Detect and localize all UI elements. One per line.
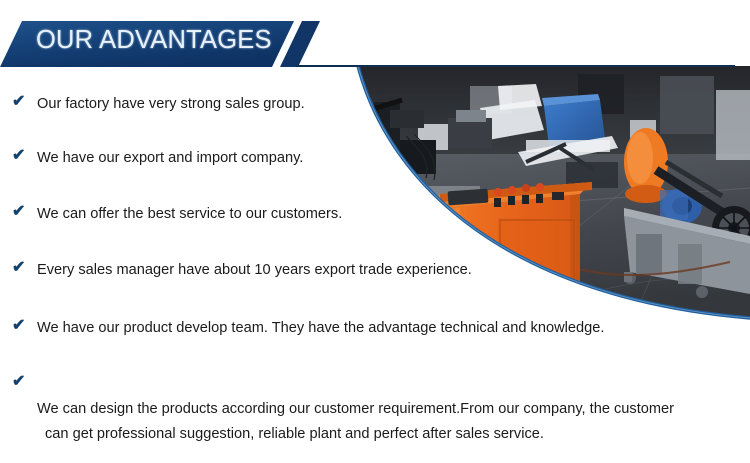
check-icon: ✔ [12,258,32,278]
list-item-label: We can design the products according our… [37,372,674,463]
list-item-label: Our factory have very strong sales group… [37,92,305,117]
list-item: ✔ We have our export and import company. [12,146,303,171]
list-item: ✔ Every sales manager have about 10 year… [12,258,472,283]
check-icon: ✔ [12,316,32,336]
banner-shape [0,21,330,67]
factory-machine-photo [330,66,750,328]
check-icon: ✔ [12,372,32,392]
list-item: ✔ We can design the products according o… [12,372,674,463]
list-item: ✔ Our factory have very strong sales gro… [12,92,305,117]
list-item-label: Every sales manager have about 10 years … [37,258,472,283]
list-item: ✔ We can offer the best service to our c… [12,202,342,227]
list-item-label: We have our product develop team. They h… [37,316,604,341]
header-rule [296,65,735,67]
list-item-label: We can offer the best service to our cus… [37,202,342,227]
check-icon: ✔ [12,92,32,112]
list-item-line-2: can get professional suggestion, reliabl… [45,422,674,447]
list-item: ✔ We have our product develop team. They… [12,316,604,341]
list-item-line-1: We can design the products according our… [37,401,674,417]
photo-illustration [330,66,750,328]
list-item-label: We have our export and import company. [37,146,303,171]
check-icon: ✔ [12,202,32,222]
check-icon: ✔ [12,146,32,166]
advantages-page: OUR ADVANTAGES ✔ Our factory have very s… [0,0,750,463]
section-header-banner [0,21,330,67]
